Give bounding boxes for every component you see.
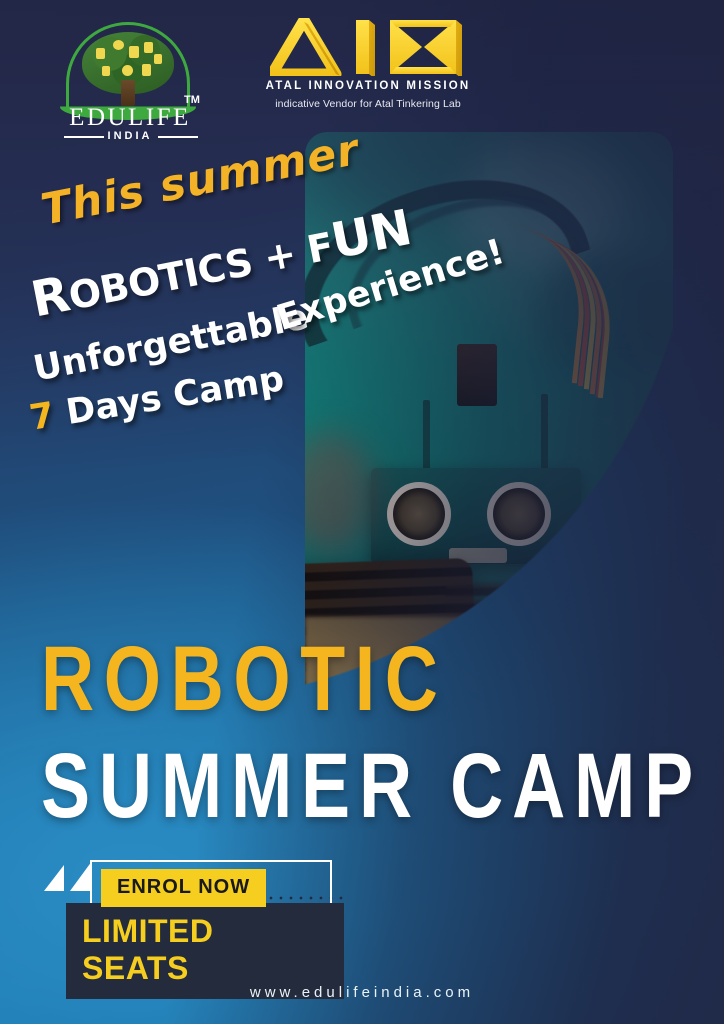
page-title-summer-camp: SUMMER CAMP [41,740,702,832]
arrow-accent-icon [44,865,64,891]
poster-canvas: TM EDULIFE INDIA [0,0,724,1024]
photo-sensor-eye-left [387,482,451,546]
photo-sensor-eye-right [487,482,551,546]
website-url[interactable]: www.edulifeindia.com [0,984,724,1001]
photo-robot-sensor-board [371,468,581,564]
arrow-accent-icon [70,861,92,891]
enrol-now-button[interactable]: ENROL NOW [101,869,266,907]
headline-block: This summer ROBOTICS + FUN Unforgettable… [0,0,724,470]
cta-block[interactable]: LIMITED SEATS ENROL NOW [44,855,344,975]
page-title-robotic: ROBOTIC [41,633,448,725]
headline-robotics-un: UN [327,199,416,270]
